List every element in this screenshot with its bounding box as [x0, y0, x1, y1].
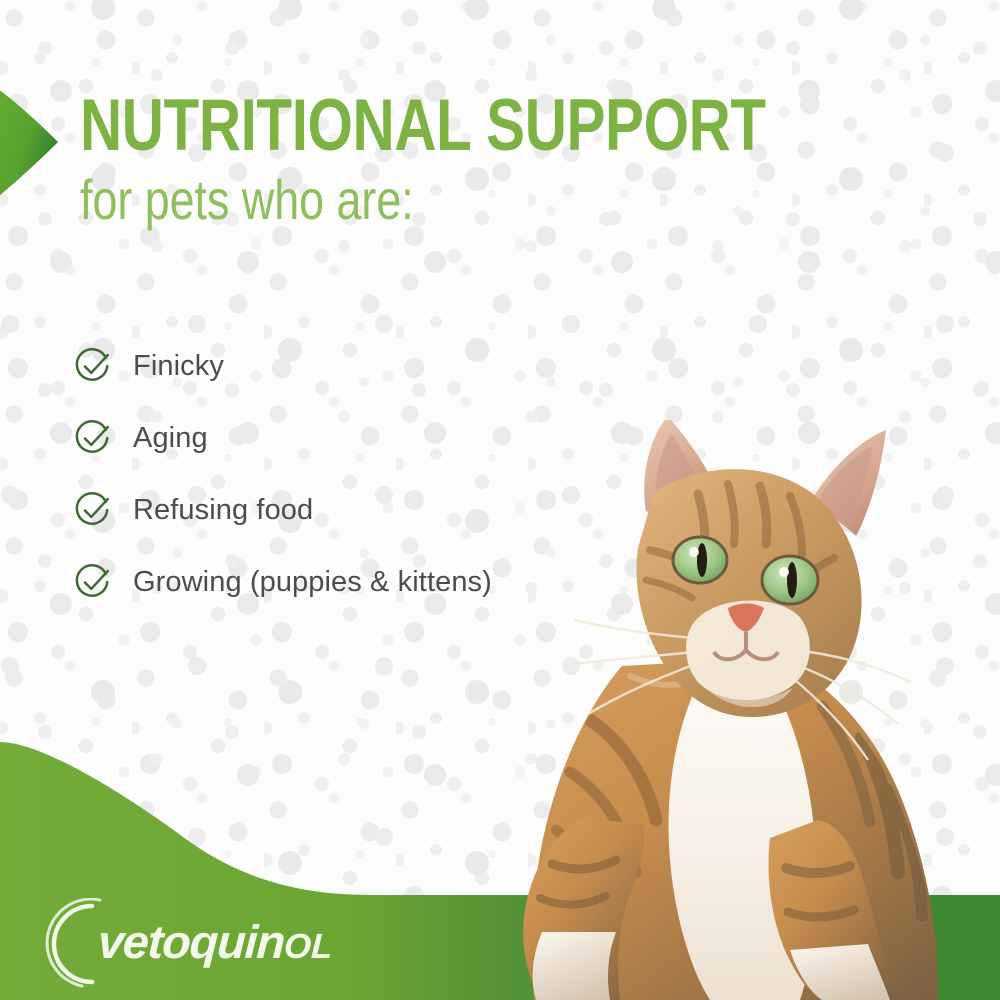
- list-item-label: Finicky: [133, 350, 224, 383]
- list-item-label: Aging: [133, 422, 208, 455]
- headline-block: NUTRITIONAL SUPPORT for pets who are:: [80, 92, 937, 230]
- brand-wordmark-tail: OL: [283, 927, 334, 966]
- page-title: NUTRITIONAL SUPPORT: [80, 92, 766, 159]
- list-item-label: Growing (puppies & kittens): [133, 566, 492, 599]
- brand-wordmark-main: vetoquin: [97, 915, 286, 968]
- list-item-label: Refusing food: [133, 494, 313, 527]
- brand-wordmark: vetoquinOL: [97, 914, 335, 969]
- list-item: Growing (puppies & kittens): [74, 546, 492, 618]
- check-circle-icon: [74, 563, 112, 601]
- banner-canvas: NUTRITIONAL SUPPORT for pets who are: Fi…: [0, 0, 1000, 1000]
- cat-photo: [470, 420, 1000, 1000]
- check-circle-icon: [74, 347, 112, 385]
- cat-eye-left: [673, 537, 727, 583]
- page-subtitle: for pets who are:: [80, 171, 766, 230]
- arrow-accent-icon: [0, 86, 62, 202]
- list-item: Finicky: [74, 330, 492, 402]
- brand-logo: vetoquinOL: [30, 898, 330, 990]
- list-item: Refusing food: [74, 474, 492, 546]
- check-circle-icon: [74, 419, 112, 457]
- list-item: Aging: [74, 402, 492, 474]
- benefits-list: Finicky Aging Refusing food Growing (pup…: [74, 330, 492, 618]
- check-circle-icon: [74, 491, 112, 529]
- cat-eye-right: [762, 556, 818, 604]
